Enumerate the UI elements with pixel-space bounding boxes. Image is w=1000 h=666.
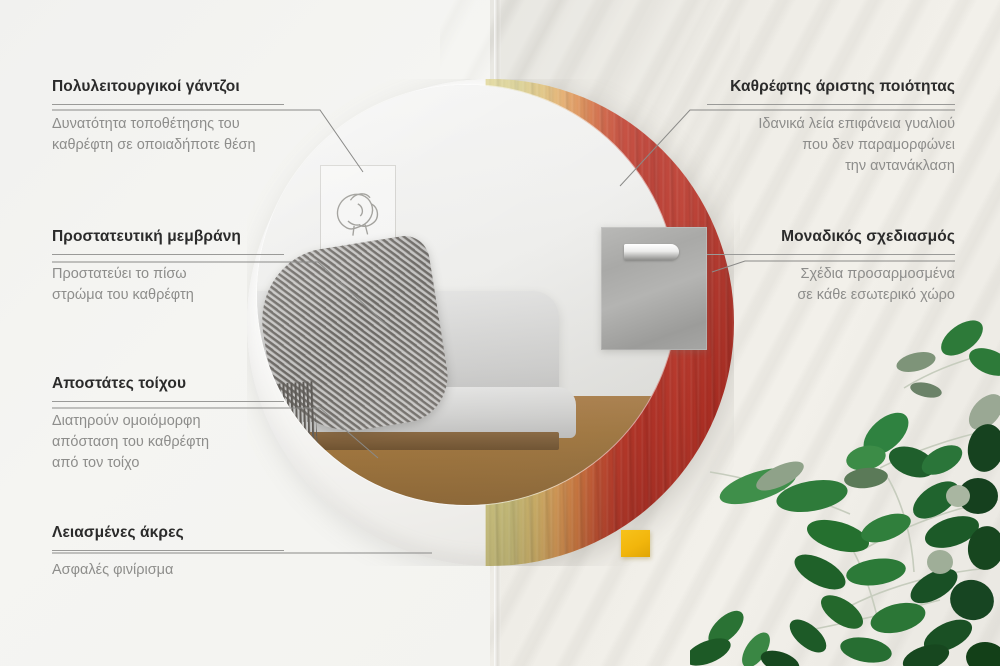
callout-unique-design: Μοναδικός σχεδιασμός Σχέδια προσαρμοσμέν…: [707, 228, 955, 306]
callout-title: Προστατευτική μεμβράνη: [52, 228, 284, 247]
callout-rule: [52, 550, 284, 551]
callout-title: Μοναδικός σχεδιασμός: [707, 228, 955, 247]
callout-body: Ιδανικά λεία επιφάνεια γυαλιού που δεν π…: [707, 114, 955, 178]
callout-body: Σχέδια προσαρμοσμένα σε κάθε εσωτερικό χ…: [707, 264, 955, 307]
callout-smoothed-edges: Λειασμένες άκρες Ασφαλές φινίρισμα: [52, 524, 284, 581]
callout-body: Διατηρούν ομοιόμορφη απόσταση του καθρέφ…: [52, 411, 284, 475]
callout-multifunctional-hooks: Πολυλειτουργικοί γάντζοι Δυνατότητα τοπο…: [52, 78, 284, 156]
eucalyptus-foliage-decoration: [690, 300, 1000, 666]
wall-spacer-icon: [621, 530, 650, 557]
callout-title: Αποστάτες τοίχου: [52, 375, 284, 394]
hook-slot-detail: [624, 244, 679, 260]
callout-body: Δυνατότητα τοποθέτησης του καθρέφτη σε ο…: [52, 114, 284, 157]
callout-rule: [707, 104, 955, 105]
callout-rule: [707, 254, 955, 255]
callout-body: Προστατεύει το πίσω στρώμα του καθρέφτη: [52, 264, 284, 307]
callout-body: Ασφαλές φινίρισμα: [52, 560, 284, 581]
callout-title: Λειασμένες άκρες: [52, 524, 284, 543]
callout-rule: [52, 254, 284, 255]
callout-rule: [52, 401, 284, 402]
callout-title: Πολυλειτουργικοί γάντζοι: [52, 78, 284, 97]
round-mirror-product: [247, 79, 734, 566]
callout-protective-membrane: Προστατευτική μεμβράνη Προστατεύει το πί…: [52, 228, 284, 306]
product-feature-infographic: Πολυλειτουργικοί γάντζοι Δυνατότητα τοπο…: [0, 0, 1000, 666]
callout-rule: [52, 104, 284, 105]
callout-title: Καθρέφτης άριστης ποιότητας: [707, 78, 955, 97]
callout-wall-spacers: Αποστάτες τοίχου Διατηρούν ομοιόμορφη απ…: [52, 375, 284, 475]
callout-top-quality-mirror: Καθρέφτης άριστης ποιότητας Ιδανικά λεία…: [707, 78, 955, 178]
